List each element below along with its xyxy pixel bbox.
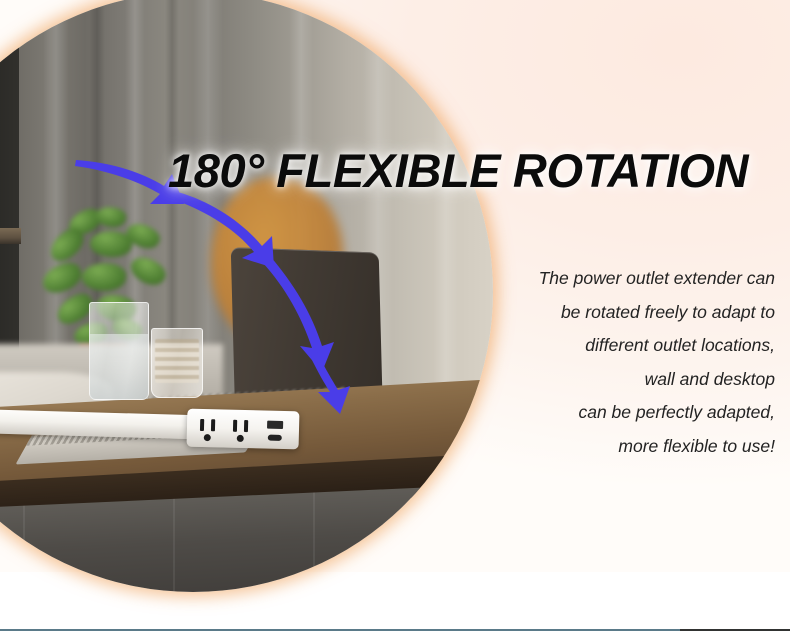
feature-description: The power outlet extender can be rotated…: [470, 262, 775, 463]
ac-ground-pin: [204, 434, 211, 441]
description-line: wall and desktop: [470, 363, 775, 397]
usb-c-port-icon: [268, 435, 282, 441]
description-line: The power outlet extender can: [470, 262, 775, 296]
curtain-fold: [433, 0, 459, 422]
small-cup: [151, 328, 203, 398]
bottom-divider-rule: [0, 629, 790, 631]
product-lifestyle-photo: [0, 0, 493, 592]
ac-slot: [233, 420, 237, 432]
ac-slot: [200, 419, 204, 431]
dark-wall-corner: [0, 0, 19, 362]
small-cup-contents: [155, 339, 199, 383]
description-line: different outlet locations,: [470, 329, 775, 363]
description-line: be rotated freely to adapt to: [470, 296, 775, 330]
water-glass: [89, 302, 149, 400]
description-line: more flexible to use!: [470, 430, 775, 464]
outlet-head-horizontal: [187, 409, 300, 450]
ac-slot: [244, 420, 248, 432]
water-level: [90, 334, 148, 399]
ac-slot: [211, 419, 215, 431]
bottom-divider-accent: [680, 629, 790, 631]
description-line: can be perfectly adapted,: [470, 396, 775, 430]
page-headline: 180° FLEXIBLE ROTATION: [168, 147, 780, 194]
wall-shelf: [0, 228, 21, 244]
usb-a-port-icon: [267, 421, 283, 429]
ac-ground-pin: [237, 435, 244, 442]
product-feature-poster: 180° FLEXIBLE ROTATION The power outlet …: [0, 0, 790, 635]
photo-scene: [0, 0, 493, 592]
